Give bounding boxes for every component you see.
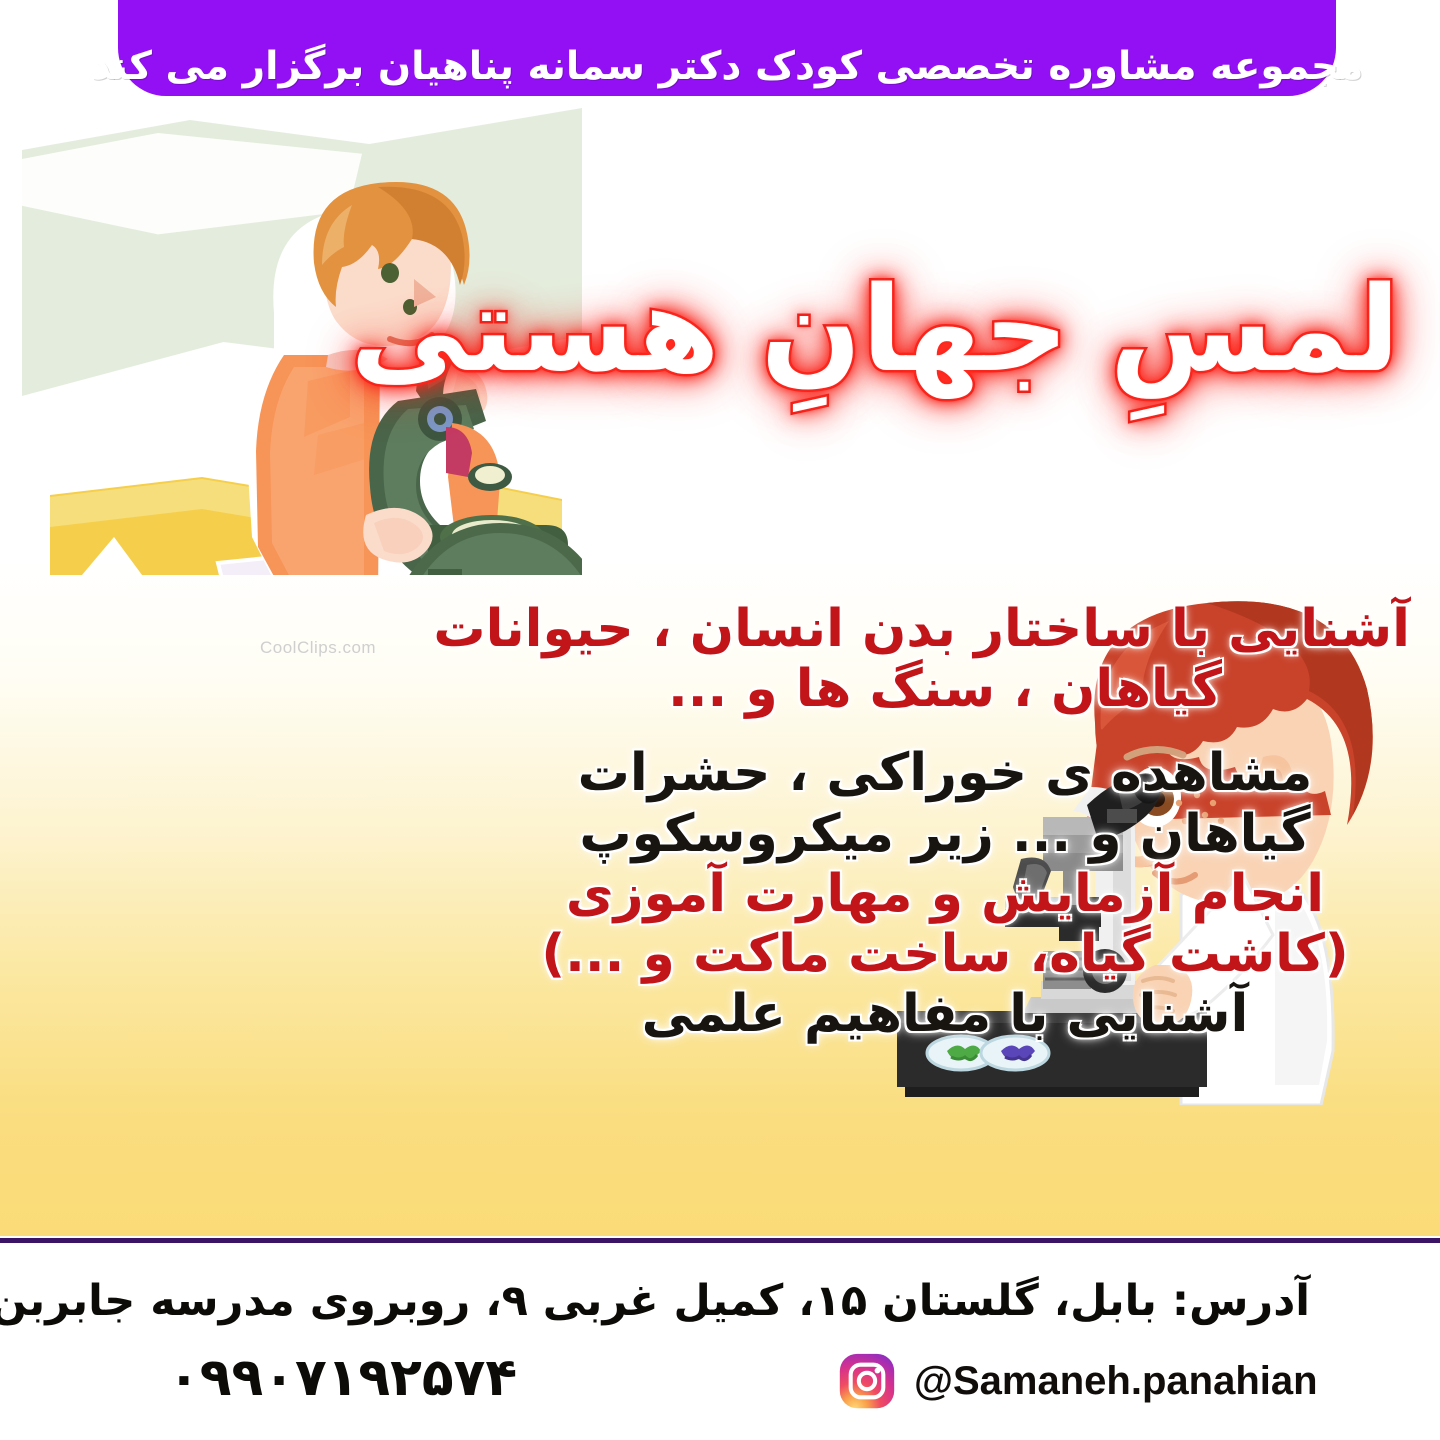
feature-line: گیاهان ، سنگ ها و ... xyxy=(480,660,1410,718)
instagram-row[interactable]: @Samaneh.panahian xyxy=(838,1352,1318,1410)
feature-line: (کاشت گیاه، ساخت ماکت و ...) xyxy=(480,925,1410,983)
footer-area xyxy=(0,1243,1440,1440)
address-text: آدرس: بابل، گلستان ۱۵، کمیل غربی ۹، روبر… xyxy=(0,1276,1310,1326)
watermark-label: CoolClips.com xyxy=(260,638,376,658)
feature-line: گیاهان و ... زیر میکروسکوپ xyxy=(480,805,1410,863)
header-banner: مجموعه مشاوره تخصصی کودک دکتر سمانه پناه… xyxy=(118,0,1336,96)
header-title: مجموعه مشاوره تخصصی کودک دکتر سمانه پناه… xyxy=(91,47,1364,86)
instagram-handle[interactable]: @Samaneh.panahian xyxy=(914,1359,1318,1404)
instagram-icon[interactable] xyxy=(838,1352,896,1410)
main-title-text: لمسِ جهانِ هستی xyxy=(350,268,1400,392)
main-title: لمسِ جهانِ هستی xyxy=(560,268,1400,392)
feature-line: آشنایی با ساختار بدن انسان ، حیوانات xyxy=(480,600,1410,658)
feature-line: آشنایی با مفاهیم علمی xyxy=(480,985,1410,1043)
feature-line: انجام آزمایش و مهارت آموزی xyxy=(480,865,1410,923)
feature-list: آشنایی با ساختار بدن انسان ، حیوانات گیا… xyxy=(480,600,1410,1046)
poster-root: CoolClips.com مجموعه مشاوره تخصصی کودک د… xyxy=(0,0,1440,1440)
footer-divider xyxy=(0,1236,1440,1243)
phone-number[interactable]: ۰۹۹۰۷۱۹۲۵۷۴ xyxy=(168,1348,517,1408)
feature-line: مشاهده ی خوراکی ، حشرات xyxy=(480,744,1410,802)
